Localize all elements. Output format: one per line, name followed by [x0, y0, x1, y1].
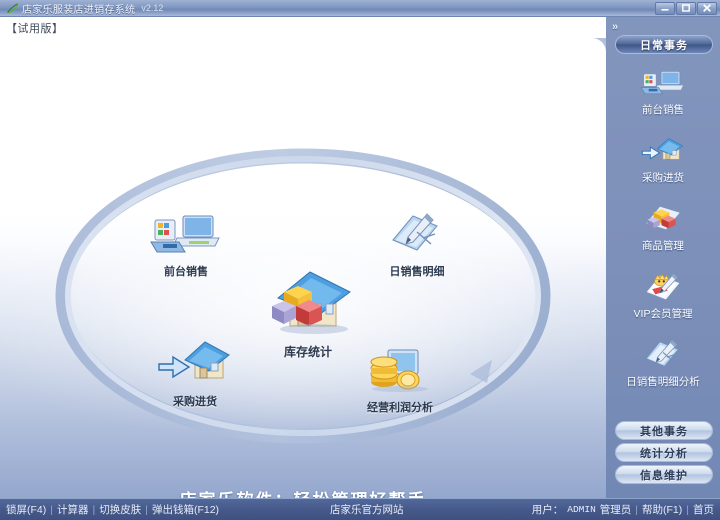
main-content-panel: 前台销售 日销售明细 [0, 38, 606, 498]
right-sidebar: » 日常事务 [606, 17, 720, 498]
sidebar-item-purchase-label: 采购进货 [642, 170, 684, 185]
sidebar-item-pos[interactable]: 前台销售 [606, 63, 720, 131]
home-link[interactable]: 首页 [693, 502, 714, 517]
window-controls [655, 2, 717, 15]
sidebar-group-info-maintenance[interactable]: 信息维护 [615, 465, 713, 484]
sidebar-item-list: 前台销售 采购进货 [606, 63, 720, 403]
open-cash-drawer-link[interactable]: 弹出钱箱(F12) [152, 502, 219, 517]
sidebar-group-statistics[interactable]: 统计分析 [615, 443, 713, 462]
trial-version-label: 【试用版】 [6, 20, 64, 36]
sidebar-item-goods-label: 商品管理 [642, 238, 684, 253]
status-separator: | [686, 504, 689, 516]
calculator-link[interactable]: 计算器 [57, 502, 89, 517]
title-bar[interactable]: 店家乐服装店进销存系统 v2.12 [0, 0, 720, 17]
node-purchase-label: 采购进货 [140, 393, 250, 409]
node-daily-detail-label: 日销售明细 [362, 263, 472, 279]
sidebar-item-goods[interactable]: 商品管理 [606, 199, 720, 267]
status-separator: | [92, 504, 95, 516]
user-label: 用户： [532, 502, 564, 517]
close-button[interactable] [697, 2, 717, 15]
status-bar-left: 锁屏(F4) | 计算器 | 切换皮肤 | 弹出钱箱(F12) [6, 502, 219, 517]
node-pos[interactable]: 前台销售 [131, 210, 241, 279]
workflow-cycle-diagram: 前台销售 日销售明细 [0, 38, 606, 458]
status-bar-right: 用户： ADMIN 管理员 | 帮助(F1) | 首页 [532, 502, 714, 517]
minimize-button[interactable] [655, 2, 675, 15]
app-window: 店家乐服装店进销存系统 v2.12 【试用版】 [0, 0, 720, 520]
status-bar: 锁屏(F4) | 计算器 | 切换皮肤 | 弹出钱箱(F12) 店家乐官方网站 … [0, 498, 720, 520]
gold-coins-chart-icon [345, 348, 455, 397]
warehouse-boxes-icon [243, 266, 373, 341]
sidebar-item-pos-label: 前台销售 [642, 102, 684, 117]
inbound-arrow-warehouse-icon [640, 131, 686, 169]
inbound-arrow-warehouse-icon [140, 338, 250, 391]
status-separator: | [50, 504, 53, 516]
sidebar-item-vip[interactable]: VIP会员管理 [606, 267, 720, 335]
sidebar-item-daily-analysis-label: 日销售明细分析 [626, 374, 700, 389]
sidebar-group-other-affairs[interactable]: 其他事务 [615, 421, 713, 440]
user-role: 管理员 [600, 502, 632, 517]
status-separator: | [635, 504, 638, 516]
sidebar-group-header-daily[interactable]: 日常事务 [615, 35, 713, 54]
sidebar-item-daily-analysis[interactable]: 日销售明细分析 [606, 335, 720, 403]
user-id: ADMIN [567, 504, 596, 515]
double-chevron-right-icon[interactable]: » [612, 21, 617, 33]
official-website-link[interactable]: 店家乐官方网站 [330, 502, 404, 517]
node-profit-analysis[interactable]: 经营利润分析 [345, 348, 455, 415]
maximize-button[interactable] [676, 2, 696, 15]
node-purchase[interactable]: 采购进货 [140, 338, 250, 409]
node-daily-detail[interactable]: 日销售明细 [362, 210, 472, 279]
green-leaf-logo-icon [4, 2, 22, 15]
node-profit-analysis-label: 经营利润分析 [345, 399, 455, 415]
trial-banner: 【试用版】 [0, 17, 606, 38]
help-link[interactable]: 帮助(F1) [642, 502, 682, 517]
vip-member-card-icon [640, 267, 686, 305]
tagline: 店家乐软件：轻松管理好帮手 [0, 486, 606, 498]
window-title: 店家乐服装店进销存系统 [22, 1, 135, 16]
cash-register-computer-icon [131, 210, 241, 261]
status-separator: | [145, 504, 148, 516]
node-pos-label: 前台销售 [131, 263, 241, 279]
report-document-pen-icon [640, 335, 686, 373]
sidebar-group-buttons: 其他事务 统计分析 信息维护 [615, 418, 713, 484]
cycle-ellipse-graphic [0, 38, 606, 458]
node-inventory-stats[interactable]: 库存统计 [243, 266, 373, 360]
cash-register-computer-icon [640, 63, 686, 101]
ledger-book-pen-icon [362, 210, 472, 261]
lock-screen-link[interactable]: 锁屏(F4) [6, 502, 46, 517]
sidebar-item-purchase[interactable]: 采购进货 [606, 131, 720, 199]
window-version: v2.12 [141, 3, 163, 13]
sidebar-item-vip-label: VIP会员管理 [634, 306, 693, 321]
colored-boxes-icon [641, 199, 685, 237]
switch-skin-link[interactable]: 切换皮肤 [99, 502, 141, 517]
